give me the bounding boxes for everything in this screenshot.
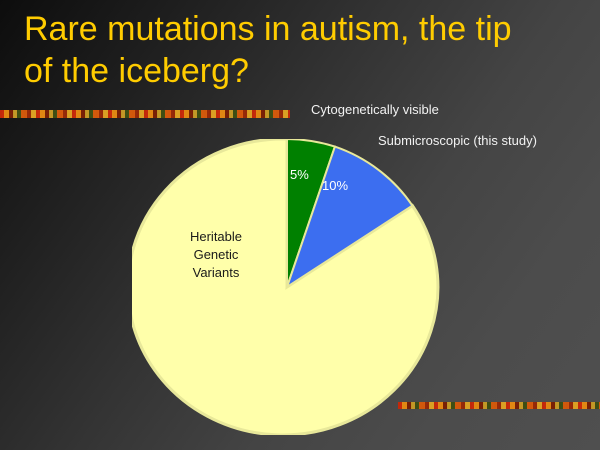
pie-chart-svg — [132, 139, 442, 435]
pie-slice-label-blue: 10% — [322, 178, 348, 193]
page-title: Rare mutations in autism, the tip of the… — [24, 8, 576, 92]
slide-canvas: Rare mutations in autism, the tip of the… — [0, 0, 600, 450]
callout-cytogenetically-visible: Cytogenetically visible — [311, 102, 439, 118]
decorative-strip-left — [0, 110, 290, 118]
pie-slice-label-green: 5% — [290, 167, 309, 182]
pie-slice-label-heritable: Heritable Genetic Variants — [158, 228, 274, 282]
pie-chart — [132, 139, 442, 435]
